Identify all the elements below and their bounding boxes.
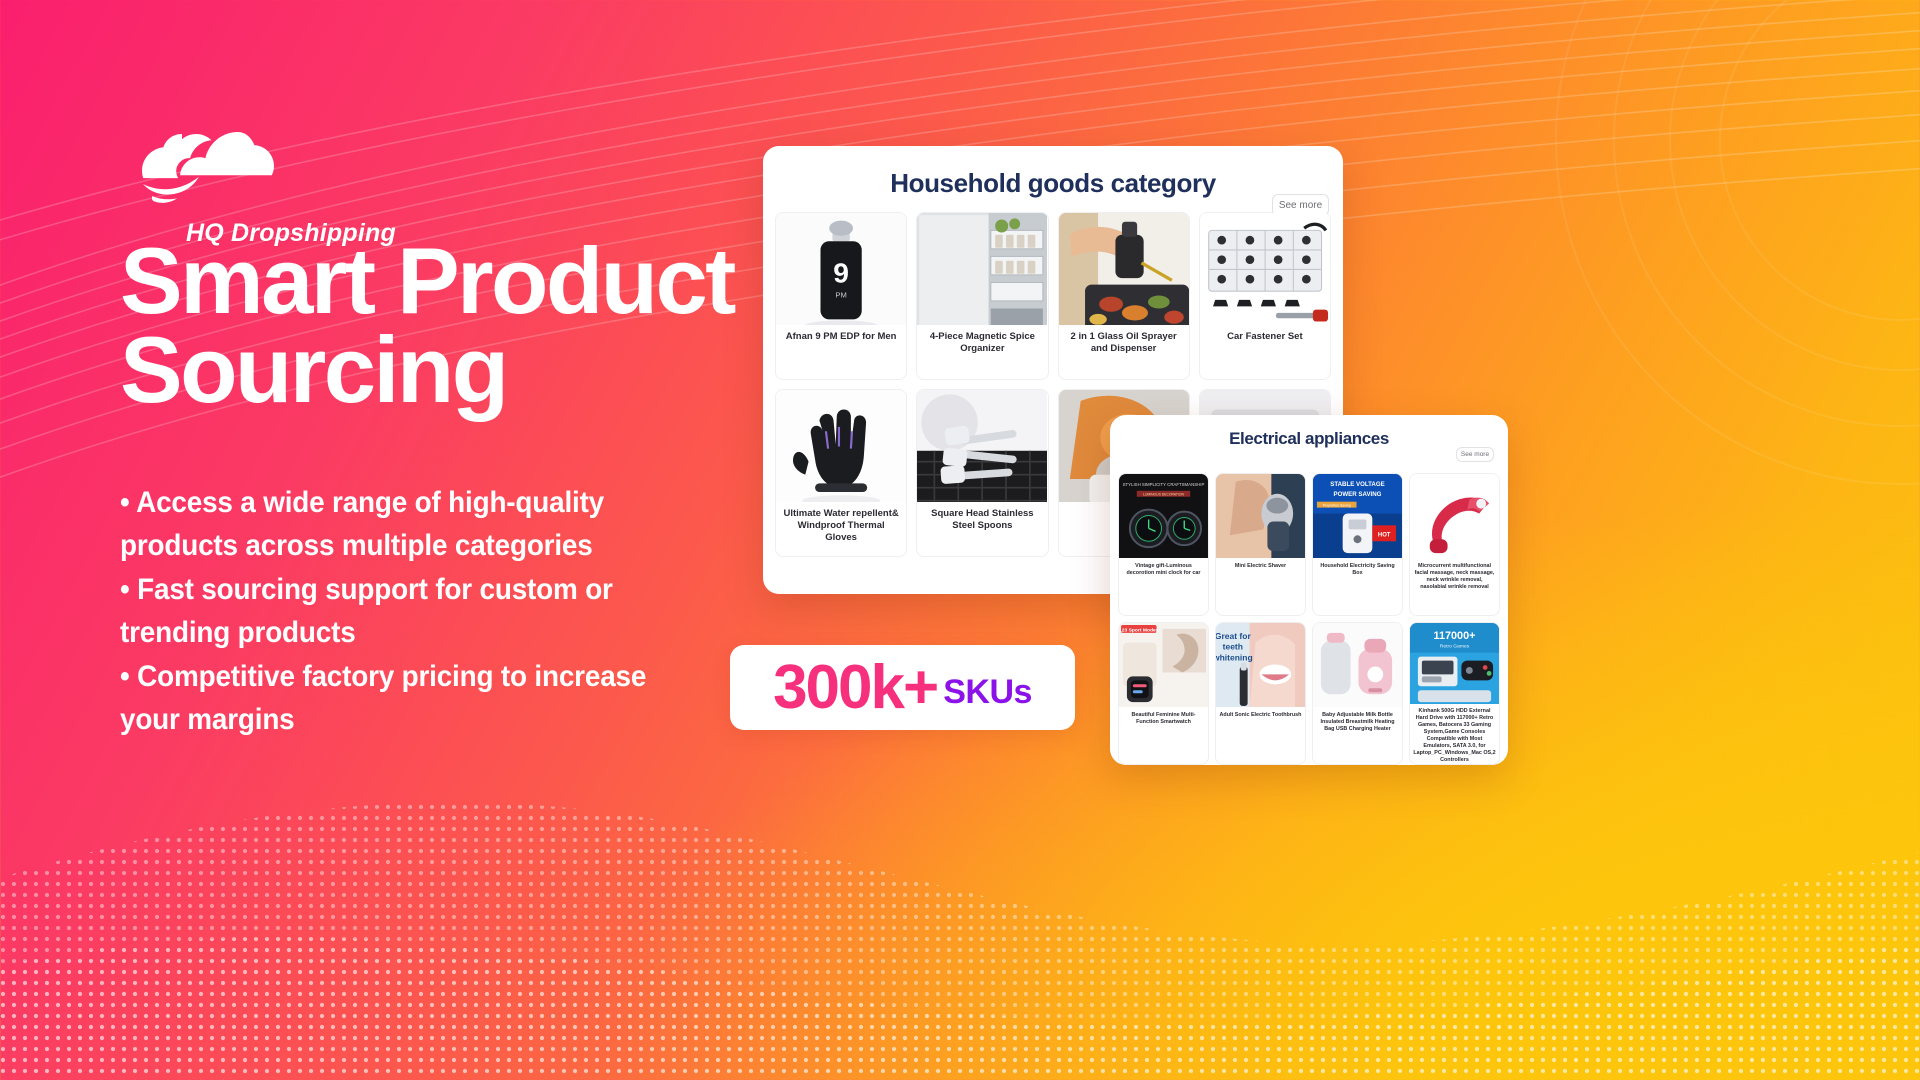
product-card[interactable]: Baby Adjustable Milk Bottle Insulated Br…	[1312, 622, 1403, 765]
electric-shaver-image	[1216, 474, 1305, 558]
bottle-heater-image	[1313, 623, 1402, 707]
smartwatch-image: 123 Sport Modes	[1119, 623, 1208, 707]
product-thumbnail	[917, 390, 1047, 502]
svg-text:117000+: 117000+	[1434, 630, 1476, 642]
product-name: Vintage gift-Luminous decorotion mini cl…	[1119, 559, 1208, 615]
list-item: • Competitive factory pricing to increas…	[120, 655, 697, 742]
svg-text:POWER SAVING: POWER SAVING	[1334, 491, 1382, 498]
product-thumbnail	[1313, 623, 1402, 708]
thermal-gloves-image	[776, 390, 906, 502]
svg-text:123 Sport Modes: 123 Sport Modes	[1119, 627, 1159, 633]
svg-text:teeth: teeth	[1223, 642, 1243, 652]
sku-count: 300k+	[773, 657, 937, 719]
product-thumbnail: STYLISH SIMPLICITY CRAFTSMANSHIP LUMINOU…	[1119, 474, 1208, 559]
product-thumbnail	[1216, 474, 1305, 559]
product-grid: STYLISH SIMPLICITY CRAFTSMANSHIP LUMINOU…	[1110, 473, 1508, 765]
panel-header: Electrical appliances See more	[1110, 415, 1508, 473]
perfume-bottle-image: 9 PM	[776, 213, 906, 325]
svg-text:Retro Games: Retro Games	[1440, 644, 1470, 650]
mini-clock-image: STYLISH SIMPLICITY CRAFTSMANSHIP LUMINOU…	[1119, 474, 1208, 558]
panel-title: Electrical appliances	[1110, 415, 1508, 449]
product-card[interactable]: STABLE VOLTAGE POWER SAVING Properties S…	[1312, 473, 1403, 616]
product-name: Mini Electric Shaver	[1216, 559, 1305, 615]
product-thumbnail: STABLE VOLTAGE POWER SAVING Properties S…	[1313, 474, 1402, 559]
product-thumbnail	[1059, 213, 1189, 325]
product-name: Microcurrent multifunctional facial mass…	[1410, 559, 1499, 615]
brand-logo: HQ Dropshipping	[120, 118, 820, 210]
svg-text:9: 9	[833, 256, 849, 288]
product-card[interactable]: 4-Piece Magnetic Spice Organizer	[916, 212, 1048, 380]
product-card[interactable]: Ultimate Water repellent& Windproof Ther…	[775, 389, 907, 557]
product-thumbnail: 123 Sport Modes	[1119, 623, 1208, 708]
panel-title: Household goods category	[763, 146, 1343, 199]
product-thumbnail: 117000+ Retro Games	[1410, 623, 1499, 704]
spice-rack-image	[917, 213, 1047, 325]
brand-name: HQ Dropshipping	[186, 219, 396, 248]
product-name: Afnan 9 PM EDP for Men	[776, 325, 906, 379]
product-card[interactable]: 2 in 1 Glass Oil Sprayer and Dispenser	[1058, 212, 1190, 380]
product-name: 2 in 1 Glass Oil Sprayer and Dispenser	[1059, 325, 1189, 379]
see-more-button[interactable]: See more	[1456, 447, 1494, 462]
product-name: Square Head Stainless Steel Spoons	[917, 502, 1047, 556]
steel-spoons-image	[917, 390, 1047, 502]
svg-text:Great for: Great for	[1216, 631, 1251, 641]
svg-text:HOT: HOT	[1378, 532, 1391, 538]
page-title: Smart Product Sourcing	[120, 236, 820, 415]
svg-text:Properties Saving: Properties Saving	[1323, 503, 1351, 507]
product-card[interactable]: 117000+ Retro Games Kinhank 500G HDD Ext…	[1409, 622, 1500, 765]
product-name: Beautiful Feminine Multi-Function Smartw…	[1119, 708, 1208, 764]
list-item: • Fast sourcing support for custom or tr…	[120, 568, 697, 655]
product-name: 4-Piece Magnetic Spice Organizer	[917, 325, 1047, 379]
facial-massager-image	[1410, 474, 1499, 558]
product-thumbnail	[1410, 474, 1499, 559]
headline-line-2: Sourcing	[120, 325, 820, 414]
product-card[interactable]: 123 Sport Modes Beautiful Feminine Multi…	[1118, 622, 1209, 765]
list-item: • Access a wide range of high-quality pr…	[120, 481, 697, 568]
product-thumbnail: Great for teeth whitening	[1216, 623, 1305, 708]
svg-text:LUMINOUS DECORATION: LUMINOUS DECORATION	[1143, 492, 1184, 496]
car-fastener-set-image	[1200, 213, 1330, 325]
product-card[interactable]: Great for teeth whitening Adult Sonic El…	[1215, 622, 1306, 765]
electric-toothbrush-image: Great for teeth whitening	[1216, 623, 1305, 707]
background-dot-wave	[0, 760, 1920, 1080]
product-name: Car Fastener Set	[1200, 325, 1330, 379]
cloud-icon	[120, 114, 360, 210]
oil-sprayer-image	[1059, 213, 1189, 325]
product-thumbnail	[917, 213, 1047, 325]
svg-text:STYLISH SIMPLICITY CRAFTSMANSH: STYLISH SIMPLICITY CRAFTSMANSHIP	[1123, 482, 1205, 487]
svg-text:whitening: whitening	[1216, 653, 1253, 663]
status-badge: 300k+ SKUs	[730, 645, 1075, 730]
product-card[interactable]: Square Head Stainless Steel Spoons	[916, 389, 1048, 557]
product-name: Household Electricity Saving Box	[1313, 559, 1402, 615]
product-card[interactable]: 9 PM Afnan 9 PM EDP for Men	[775, 212, 907, 380]
product-name: Ultimate Water repellent& Windproof Ther…	[776, 502, 906, 556]
hero-content: HQ Dropshipping Smart Product Sourcing •…	[120, 118, 820, 742]
panel-electrical-appliances: Electrical appliances See more STYLISH S…	[1110, 415, 1508, 765]
feature-bullet-list: • Access a wide range of high-quality pr…	[120, 481, 740, 742]
panel-header: Household goods category See more	[763, 146, 1343, 212]
product-name: Adult Sonic Electric Toothbrush	[1216, 708, 1305, 764]
product-thumbnail: 9 PM	[776, 213, 906, 325]
product-thumbnail	[1200, 213, 1330, 325]
svg-text:PM: PM	[835, 291, 846, 300]
product-card[interactable]: Microcurrent multifunctional facial mass…	[1409, 473, 1500, 616]
product-name: Kinhank 500G HDD External Hard Drive wit…	[1410, 704, 1499, 764]
product-name: Baby Adjustable Milk Bottle Insulated Br…	[1313, 708, 1402, 764]
product-thumbnail	[776, 390, 906, 502]
retro-game-console-image: 117000+ Retro Games	[1410, 623, 1499, 704]
sku-label: SKUs	[943, 675, 1032, 709]
product-card[interactable]: STYLISH SIMPLICITY CRAFTSMANSHIP LUMINOU…	[1118, 473, 1209, 616]
product-card[interactable]: Car Fastener Set	[1199, 212, 1331, 380]
power-saving-box-image: STABLE VOLTAGE POWER SAVING Properties S…	[1313, 474, 1402, 558]
svg-text:STABLE VOLTAGE: STABLE VOLTAGE	[1330, 481, 1384, 488]
product-card[interactable]: Mini Electric Shaver	[1215, 473, 1306, 616]
